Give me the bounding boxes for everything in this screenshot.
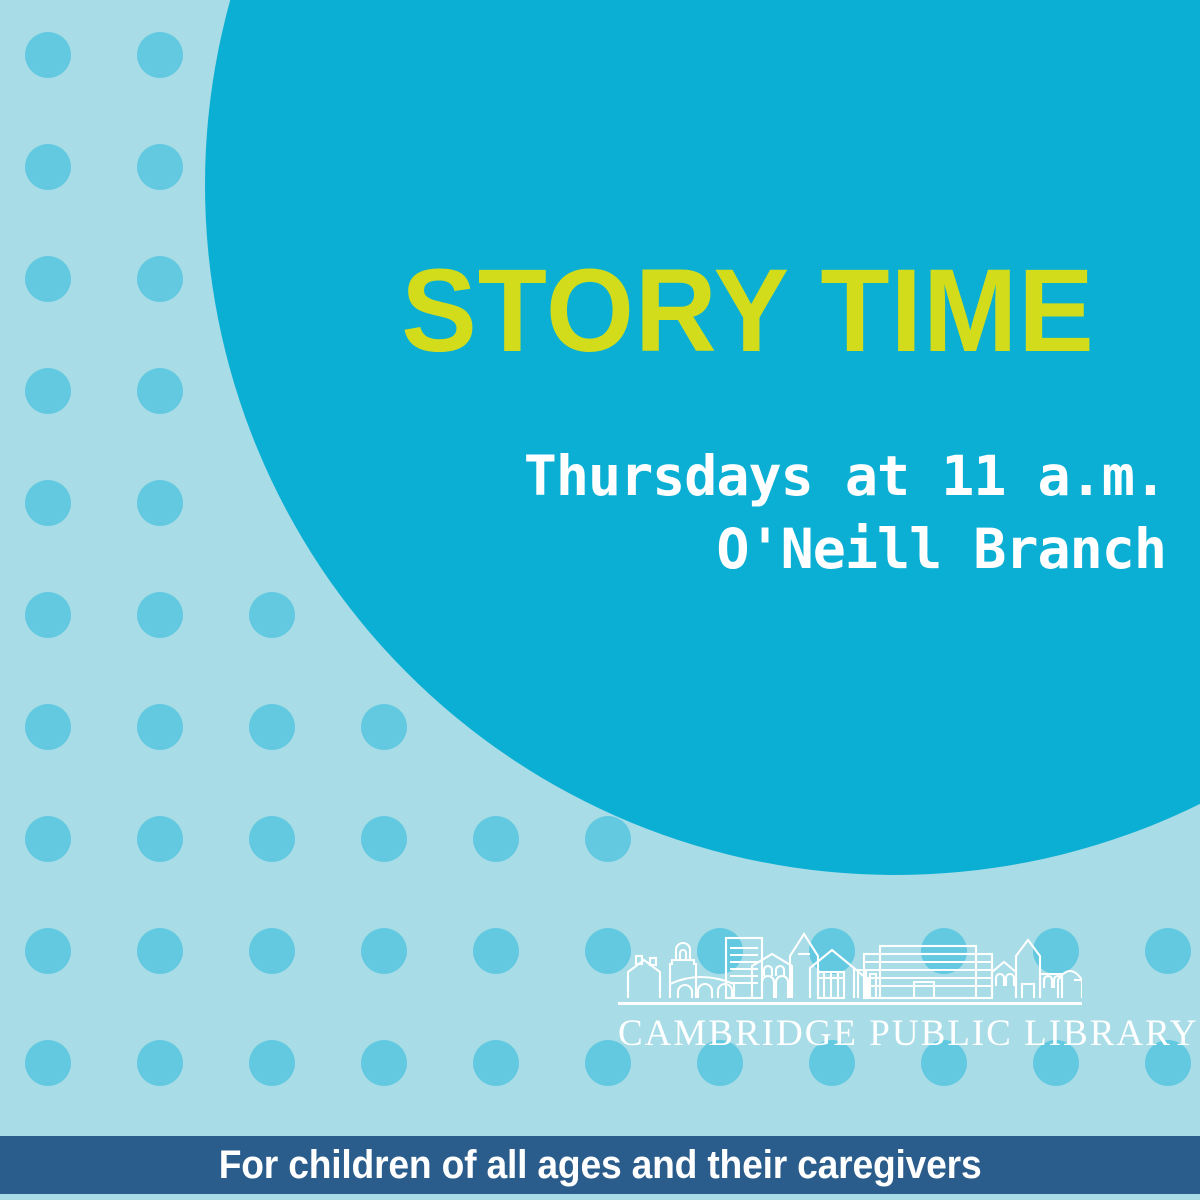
pattern-dot	[25, 32, 71, 78]
pattern-dot	[25, 704, 71, 750]
pattern-dot	[25, 256, 71, 302]
pattern-dot	[361, 1040, 407, 1086]
pattern-dot	[25, 592, 71, 638]
story-time-poster: STORY TIME Thursdays at 11 a.m. O'Neill …	[0, 0, 1200, 1200]
pattern-dot	[361, 704, 407, 750]
pattern-dot	[473, 1040, 519, 1086]
audience-banner: For children of all ages and their careg…	[0, 1136, 1200, 1194]
library-logo: CAMBRIDGE PUBLIC LIBRARY	[618, 928, 1082, 1054]
pattern-dot	[25, 928, 71, 974]
event-schedule-line: Thursdays at 11 a.m.	[300, 440, 1166, 513]
pattern-dot	[137, 480, 183, 526]
audience-banner-text: For children of all ages and their careg…	[219, 1143, 982, 1188]
pattern-dot	[249, 704, 295, 750]
logo-wordmark: CAMBRIDGE PUBLIC LIBRARY	[618, 1015, 1082, 1054]
pattern-dot	[25, 368, 71, 414]
pattern-dot	[25, 816, 71, 862]
pattern-dot	[1145, 928, 1191, 974]
event-details: Thursdays at 11 a.m. O'Neill Branch	[300, 440, 1166, 586]
pattern-dot	[361, 928, 407, 974]
pattern-dot	[137, 704, 183, 750]
pattern-dot	[137, 32, 183, 78]
cambridge-skyline-icon	[618, 928, 1082, 1000]
pattern-dot	[137, 144, 183, 190]
pattern-dot	[361, 816, 407, 862]
pattern-dot	[473, 928, 519, 974]
pattern-dot	[249, 928, 295, 974]
pattern-dot	[585, 816, 631, 862]
pattern-dot	[137, 592, 183, 638]
pattern-dot	[25, 144, 71, 190]
pattern-dot	[249, 592, 295, 638]
pattern-dot	[25, 480, 71, 526]
pattern-dot	[137, 1040, 183, 1086]
pattern-dot	[137, 368, 183, 414]
pattern-dot	[25, 1040, 71, 1086]
page-title: STORY TIME	[347, 252, 1150, 370]
banner-bottom-strip	[0, 1194, 1200, 1200]
pattern-dot	[473, 816, 519, 862]
pattern-dot	[137, 816, 183, 862]
pattern-dot	[249, 1040, 295, 1086]
pattern-dot	[137, 928, 183, 974]
pattern-dot	[249, 816, 295, 862]
event-location-line: O'Neill Branch	[300, 513, 1166, 586]
logo-divider-rule	[618, 1002, 1082, 1005]
pattern-dot	[137, 256, 183, 302]
